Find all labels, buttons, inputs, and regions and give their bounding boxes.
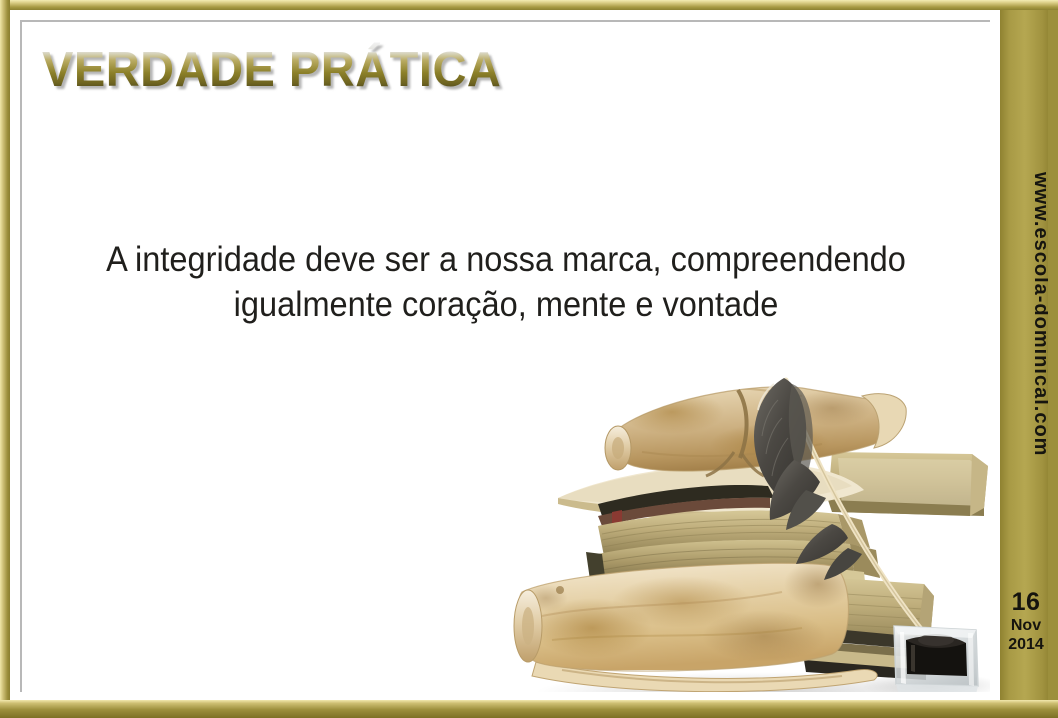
illustration-books-quill-inkwell: [502, 340, 990, 692]
date-month: Nov: [1000, 617, 1052, 635]
slide-canvas: VERDADE PRÁTICA A integridade deve ser a…: [0, 0, 1058, 718]
page-title: VERDADE PRÁTICA: [42, 42, 501, 98]
frame-top-band: [0, 0, 1058, 10]
date-year: 2014: [1000, 636, 1052, 654]
frame-left-band: [0, 0, 10, 718]
website-url-label: www.escola-dominical.com: [1000, 84, 1052, 544]
slide-inner-page: VERDADE PRÁTICA A integridade deve ser a…: [22, 22, 990, 692]
branding-sidebar: www.escola-dominical.com 16 Nov 2014: [1000, 6, 1052, 712]
frame-bottom-band: [0, 700, 1058, 718]
date-day: 16: [1000, 588, 1052, 617]
date-stamp: 16 Nov 2014: [1000, 588, 1052, 654]
body-paragraph: A integridade deve ser a nossa marca, co…: [80, 238, 932, 328]
